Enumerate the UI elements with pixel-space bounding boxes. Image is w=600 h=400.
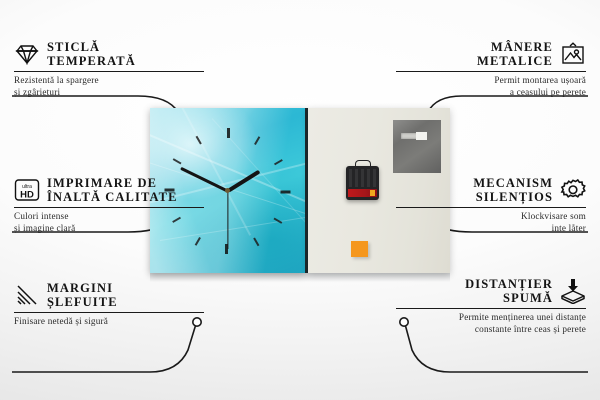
callout-tempered-glass: STICLĂ TEMPERATĂ Rezistentă la spargere … bbox=[14, 40, 204, 98]
callout-title: DISTANȚIER SPUMĂ bbox=[465, 277, 553, 305]
callout-title: MÂNERE METALICE bbox=[477, 40, 553, 68]
diamond-icon bbox=[14, 41, 40, 67]
callout-title: IMPRIMARE DE ÎNALTĂ CALITATE bbox=[47, 176, 178, 204]
callout-subtitle: Culori intense și imagine clară bbox=[14, 211, 204, 234]
callout-silent-mechanism: MECANISM SILENȚIOS Klockvisare som inte … bbox=[396, 176, 586, 234]
callout-rule bbox=[14, 312, 204, 313]
clock-second-hand bbox=[227, 191, 228, 249]
connector-line-3 bbox=[12, 324, 196, 372]
gear-icon bbox=[560, 177, 586, 203]
callout-rule bbox=[14, 71, 204, 72]
foam-spacer-part bbox=[351, 241, 368, 257]
clock-center-cap bbox=[225, 188, 230, 193]
svg-text:HD: HD bbox=[20, 190, 34, 201]
spacer-arrow-icon bbox=[560, 278, 586, 304]
callout-foam-spacer: DISTANȚIER SPUMĂ Permite menținerea unei… bbox=[396, 277, 586, 335]
clock-mechanism-part bbox=[346, 166, 379, 200]
callout-title: MECANISM SILENȚIOS bbox=[473, 176, 553, 204]
product-infographic: STICLĂ TEMPERATĂ Rezistentă la spargere … bbox=[0, 0, 600, 400]
ultra-hd-icon: ultra HD bbox=[14, 177, 40, 203]
metal-hanger-part bbox=[393, 120, 441, 173]
callout-metal-handles: MÂNERE METALICE Permit montarea ușoară a… bbox=[396, 40, 586, 98]
callout-title: MARGINI ȘLEFUITE bbox=[47, 281, 118, 309]
callout-subtitle: Permite menținerea unei distanțe constan… bbox=[396, 312, 586, 335]
callout-subtitle: Finisare netedă și sigură bbox=[14, 316, 204, 328]
callout-rule bbox=[396, 207, 586, 208]
callout-rule bbox=[396, 71, 586, 72]
callout-title: STICLĂ TEMPERATĂ bbox=[47, 40, 136, 68]
callout-subtitle: Rezistentă la spargere și zgârieturi bbox=[14, 75, 204, 98]
callout-polished-edges: MARGINI ȘLEFUITE Finisare netedă și sigu… bbox=[14, 281, 204, 328]
callout-hd-printing: ultra HD IMPRIMARE DE ÎNALTĂ CALITATE Cu… bbox=[14, 176, 204, 234]
callout-rule bbox=[396, 308, 586, 309]
callout-subtitle: Klockvisare som inte låter bbox=[396, 211, 586, 234]
polished-edge-icon bbox=[14, 282, 40, 308]
picture-frame-hook-icon bbox=[560, 41, 586, 67]
callout-rule bbox=[14, 207, 204, 208]
callout-subtitle: Permit montarea ușoară a ceasului pe per… bbox=[396, 75, 586, 98]
